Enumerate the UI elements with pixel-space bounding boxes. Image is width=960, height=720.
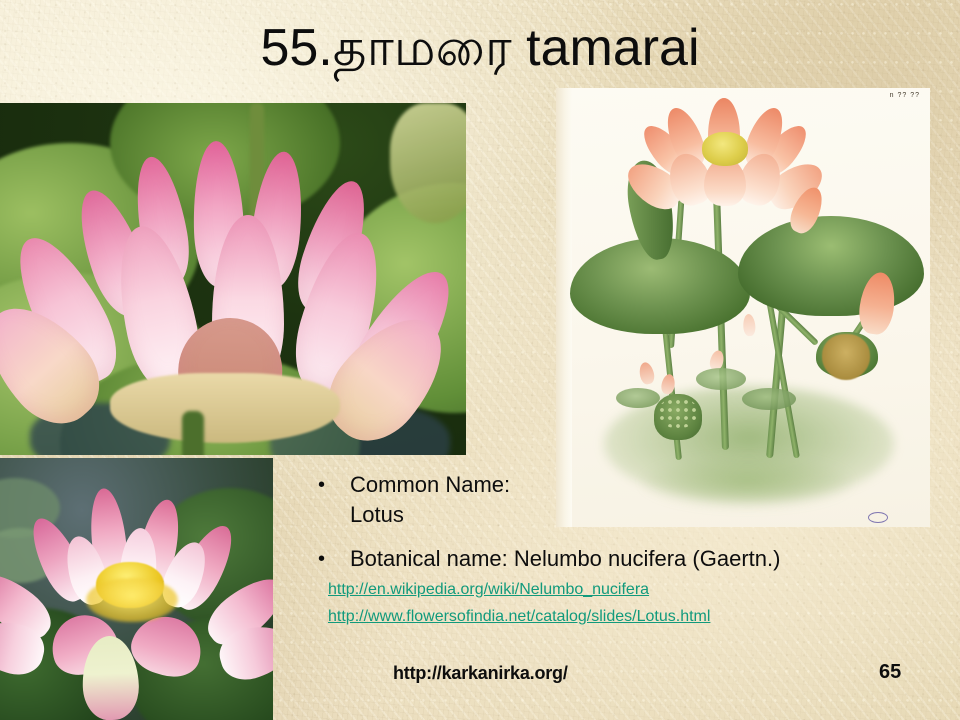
bullet-marker: •	[318, 470, 350, 500]
illustration-withered-flower	[822, 334, 870, 380]
botanical-name-text: Botanical name: Nelumbo nucifera (Gaertn…	[350, 544, 938, 574]
footer-page-number: 65	[879, 659, 901, 685]
bullet-botanical-name: • Botanical name: Nelumbo nucifera (Gaer…	[318, 544, 938, 574]
floating-pad	[616, 388, 660, 408]
floating-pad	[696, 368, 746, 390]
bullet-common-name: • Common Name: Lotus	[318, 470, 938, 530]
illustration-seed-pod-holes	[658, 398, 698, 428]
flower-base	[110, 373, 340, 443]
wikipedia-link[interactable]: http://en.wikipedia.org/wiki/Nelumbo_nuc…	[328, 579, 649, 601]
bullet-marker: •	[318, 544, 350, 574]
page-title: 55.தாமரை tamarai	[0, 18, 960, 78]
stem-shape	[182, 411, 204, 455]
lotus-botanical-illustration: n ?? ??	[556, 88, 930, 527]
illustration-catalog-mark: n ?? ??	[890, 92, 920, 99]
illustration-paper-edge	[556, 88, 572, 527]
common-name-label: Common Name:	[350, 470, 938, 500]
bullet-common-name-body: Common Name: Lotus	[350, 470, 938, 530]
flowersofindia-link[interactable]: http://www.flowersofindia.net/catalog/sl…	[328, 606, 710, 628]
slide-canvas: 55.தாமரை tamarai	[0, 0, 960, 720]
illustration-flower-centre	[702, 132, 748, 166]
open-lotus-photo	[0, 458, 273, 720]
reference-links: http://en.wikipedia.org/wiki/Nelumbo_nuc…	[318, 574, 938, 628]
content-text-block: • Common Name: Lotus • Botanical name: N…	[318, 470, 938, 628]
floating-pad	[742, 388, 796, 410]
common-name-value: Lotus	[350, 500, 938, 530]
lotus-stamens	[86, 578, 178, 622]
footer-source-url: http://karkanirka.org/	[393, 661, 568, 685]
pink-lotus-bud-photo	[0, 103, 466, 455]
